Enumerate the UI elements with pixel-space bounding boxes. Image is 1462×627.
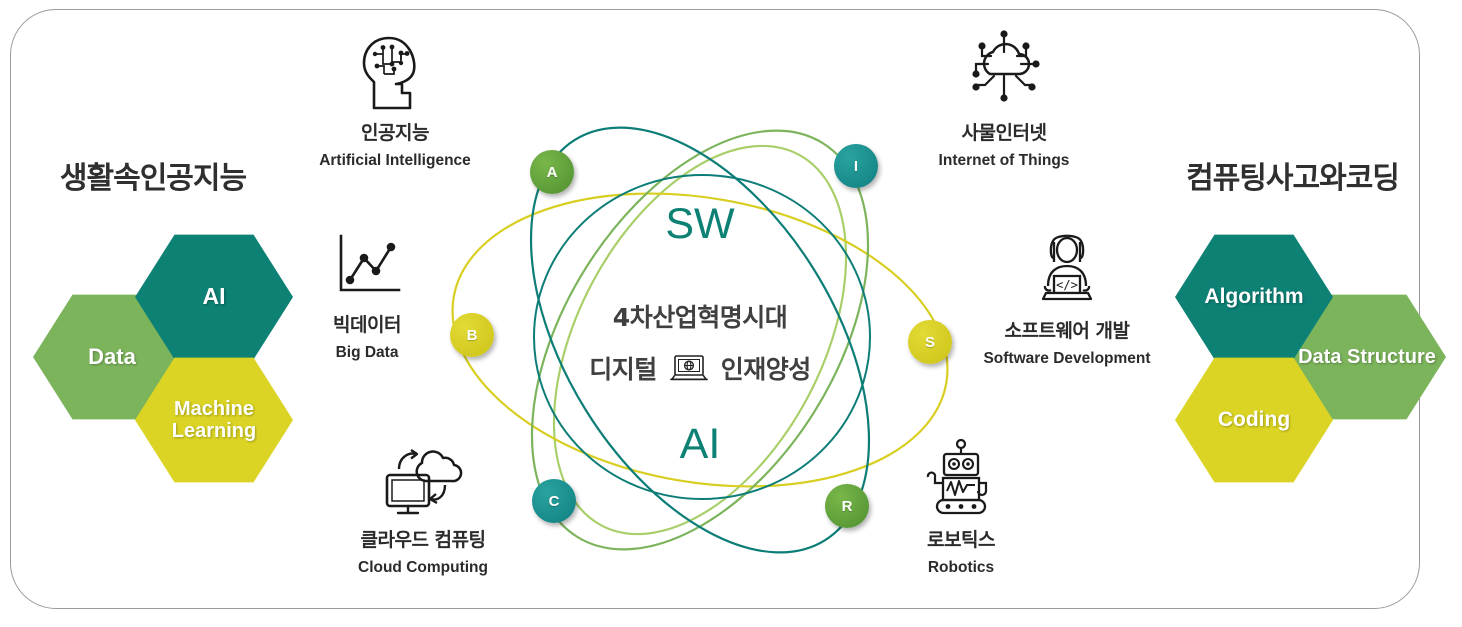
topic-internet-of-things[interactable]: 사물인터넷 Internet of Things bbox=[889, 30, 1119, 170]
cloud-network-icon bbox=[889, 30, 1119, 110]
infographic-canvas: 생활속인공지능 Data AI Machine Learning 컴퓨팅사고와코… bbox=[0, 0, 1462, 627]
topic-iot-ko: 사물인터넷 bbox=[889, 118, 1119, 145]
core-headline-2: 디지털 인재양성 bbox=[520, 350, 880, 386]
hex-algorithm-label: Algorithm bbox=[1204, 285, 1303, 309]
hex-machine-learning-label: Machine Learning bbox=[135, 398, 293, 443]
topic-cloud-en: Cloud Computing bbox=[308, 559, 538, 577]
topic-artificial-intelligence[interactable]: 인공지능 Artificial Intelligence bbox=[280, 30, 510, 170]
laptop-globe-icon bbox=[670, 354, 708, 382]
badge-s[interactable]: S bbox=[908, 320, 952, 364]
topic-iot-en: Internet of Things bbox=[889, 152, 1119, 170]
badge-c[interactable]: C bbox=[532, 479, 576, 523]
hex-data-label: Data bbox=[88, 345, 136, 370]
hex-ai-label: AI bbox=[203, 284, 226, 310]
topic-cloud-ko: 클라우드 컴퓨팅 bbox=[308, 525, 538, 552]
core-tag-sw: SW bbox=[620, 200, 780, 249]
left-section-title: 생활속인공지능 bbox=[28, 153, 278, 197]
core-headline-2-before: 디지털 bbox=[589, 350, 657, 386]
developer-icon: </> bbox=[952, 228, 1182, 308]
brain-head-icon bbox=[280, 30, 510, 110]
robot-icon bbox=[846, 437, 1076, 517]
line-chart-icon bbox=[252, 222, 482, 302]
cloud-monitor-icon bbox=[308, 437, 538, 517]
topic-bd-ko: 빅데이터 bbox=[252, 310, 482, 337]
topic-robot-en: Robotics bbox=[846, 559, 1076, 577]
topic-bd-en: Big Data bbox=[252, 344, 482, 362]
right-section-title: 컴퓨팅사고와코딩 bbox=[1160, 153, 1425, 197]
badge-s-letter: S bbox=[925, 334, 935, 351]
topic-ai-en: Artificial Intelligence bbox=[280, 152, 510, 170]
hex-data-structure-label: Data Structure bbox=[1298, 346, 1436, 368]
core-tag-ai: AI bbox=[620, 420, 780, 469]
topic-cloud-computing[interactable]: 클라우드 컴퓨팅 Cloud Computing bbox=[308, 437, 538, 577]
topic-big-data[interactable]: 빅데이터 Big Data bbox=[252, 222, 482, 362]
core-headline-1: 4차산업혁명시대 bbox=[520, 298, 880, 334]
badge-a[interactable]: A bbox=[530, 150, 574, 194]
badge-i-letter: I bbox=[854, 158, 858, 175]
badge-a-letter: A bbox=[547, 164, 558, 181]
hex-coding-label: Coding bbox=[1218, 408, 1290, 432]
topic-robot-ko: 로보틱스 bbox=[846, 525, 1076, 552]
topic-sw-en: Software Development bbox=[952, 350, 1182, 368]
topic-robotics[interactable]: 로보틱스 Robotics bbox=[846, 437, 1076, 577]
topic-software-development[interactable]: </> 소프트웨어 개발 Software Development bbox=[952, 228, 1182, 368]
topic-sw-ko: 소프트웨어 개발 bbox=[952, 316, 1182, 343]
core-headline-2-after: 인재양성 bbox=[721, 350, 811, 386]
svg-text:</>: </> bbox=[1056, 278, 1078, 292]
badge-c-letter: C bbox=[549, 493, 560, 510]
badge-i[interactable]: I bbox=[834, 144, 878, 188]
topic-ai-ko: 인공지능 bbox=[280, 118, 510, 145]
